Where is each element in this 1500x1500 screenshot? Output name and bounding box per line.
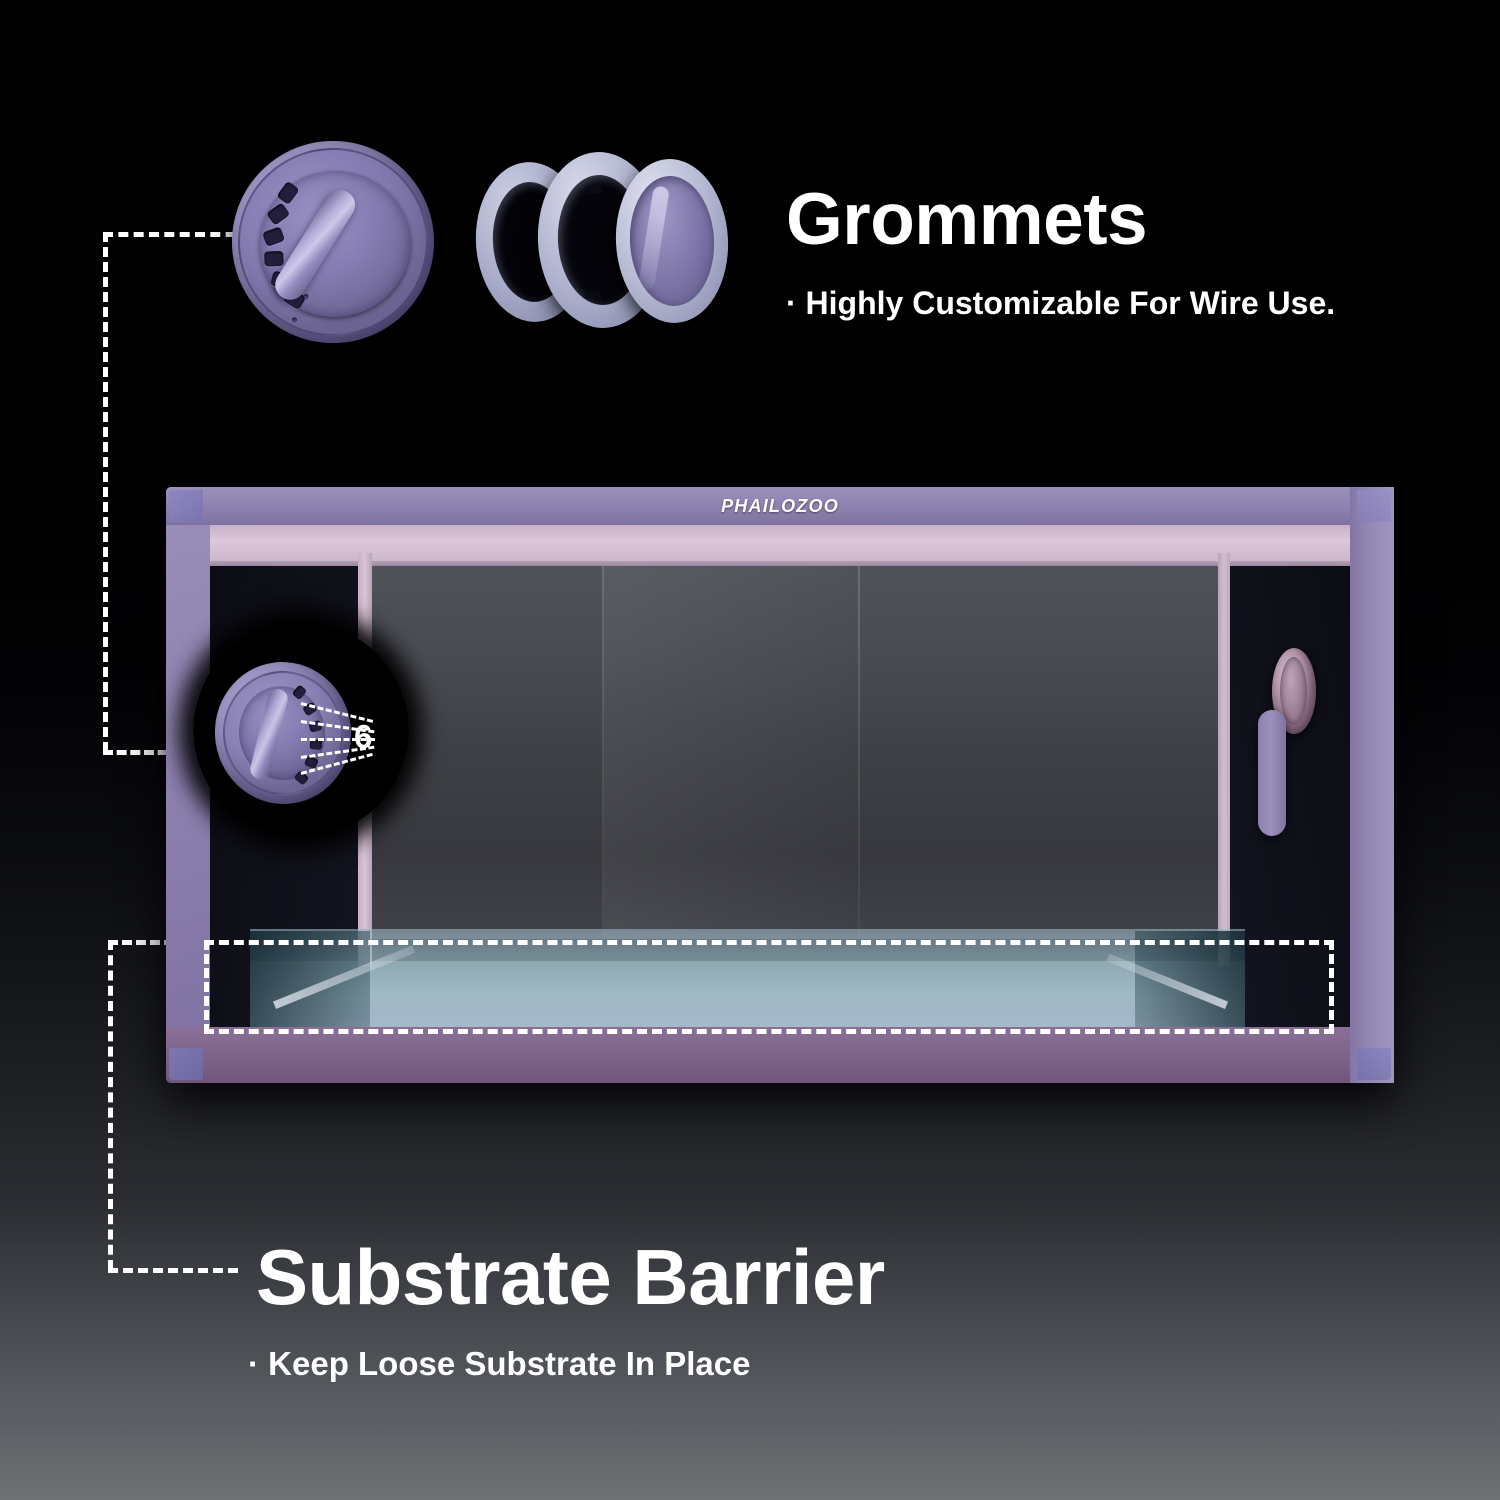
grommets-title: Grommets xyxy=(786,178,1147,261)
corner-bracket-bottom-right xyxy=(1357,1048,1391,1080)
grommets-bullet: · Highly Customizable For Wire Use. xyxy=(786,285,1335,322)
substrate-barrier-title: Substrate Barrier xyxy=(256,1232,885,1323)
door-latch-icon[interactable] xyxy=(1258,648,1316,838)
enclosure-frame-right-rail xyxy=(1350,487,1394,1083)
substrate-barrier-bullet: · Keep Loose Substrate In Place xyxy=(248,1345,750,1383)
enclosure-top-trim-edge xyxy=(210,561,1350,566)
substrate-leader-bottom xyxy=(108,1268,238,1273)
enclosure-top-trim xyxy=(210,525,1350,561)
corner-bracket-top-left xyxy=(169,490,203,522)
grommet-count-label: 6 xyxy=(354,718,372,756)
substrate-barrier-outline xyxy=(204,940,1334,1034)
latch-handle-bar[interactable] xyxy=(1258,710,1286,836)
grommet-leader-top xyxy=(103,232,251,237)
grommet-leader-vertical xyxy=(103,232,108,752)
corner-bracket-top-right xyxy=(1357,490,1391,522)
corner-bracket-bottom-left xyxy=(169,1048,203,1080)
enclosure-right-post xyxy=(1218,553,1230,967)
grommet-cap-icon xyxy=(222,131,444,353)
enclosure-frame-bottom-rail xyxy=(166,1027,1394,1083)
grommet-callout-bubble xyxy=(193,622,409,838)
enclosure-frame-top-rail: PHAILOZOO xyxy=(166,487,1394,525)
feature-graphic-canvas: Grommets · Highly Customizable For Wire … xyxy=(0,0,1500,1500)
substrate-leader-vertical xyxy=(108,940,113,1270)
brand-logo: PHAILOZOO xyxy=(721,496,839,517)
enclosure-back-panel xyxy=(370,563,1220,939)
